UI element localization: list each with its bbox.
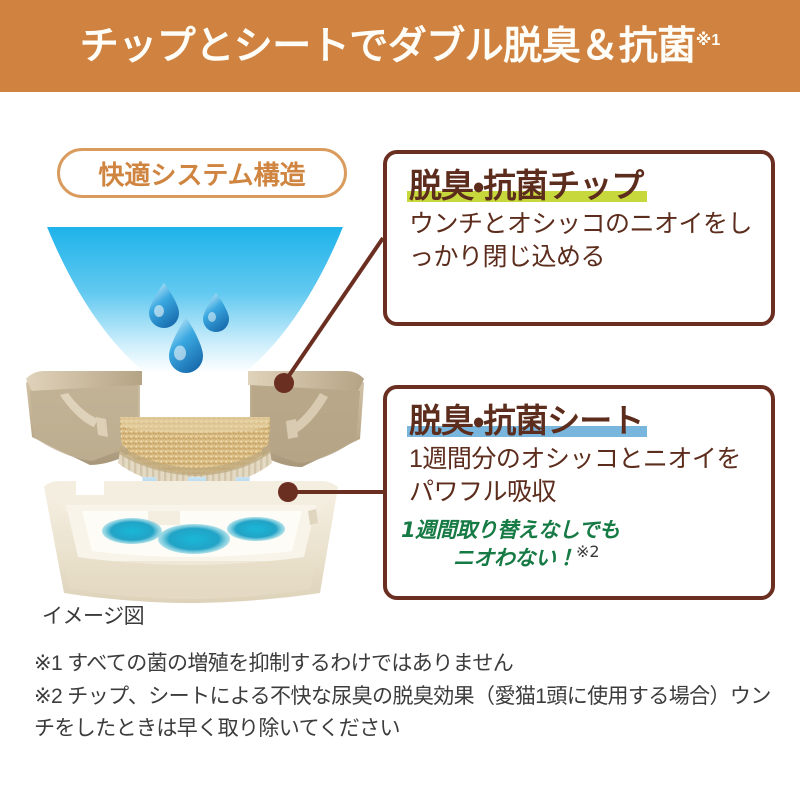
page-title-text: チップとシートでダブル脱臭＆抗菌 — [80, 25, 696, 68]
callout-chip-heading: 脱臭・抗菌チップ — [409, 168, 643, 205]
callout-sheet-heading: 脱臭・抗菌シート — [409, 403, 643, 440]
handwritten-claim-line2-text: ニオわない！ — [453, 546, 576, 570]
page-title-footnote-marker: ※1 — [696, 32, 720, 49]
footnotes: ※1 すべての菌の増殖を抑制するわけではありません ※2 チップ、シートによる不… — [34, 648, 774, 746]
callout-chip-heading-text: 脱臭・抗菌チップ — [409, 167, 643, 204]
footnote-2: ※2 チップ、シートによる不快な尿臭の脱臭効果（愛猫1頭に使用する場合）ウンチを… — [34, 681, 774, 746]
lower-sheet-tray — [44, 481, 338, 603]
handwritten-claim-line1: 1週間取り替えなしでも — [401, 519, 771, 543]
page-title: チップとシートでダブル脱臭＆抗菌※1 — [80, 27, 720, 66]
handwritten-claim: 1週間取り替えなしでも ニオわない！※2 — [387, 519, 771, 570]
system-structure-badge-label: 快適システム構造 — [98, 155, 305, 192]
callout-sheet-heading-text: 脱臭・抗菌シート — [409, 402, 643, 439]
footnote-1: ※1 すべての菌の増殖を抑制するわけではありません — [34, 648, 774, 681]
callout-chip-body: ウンチとオシッコのニオイをしっかり閉じ込める — [409, 208, 757, 275]
handwritten-claim-line2: ニオわない！※2 — [401, 543, 771, 571]
image-caption: イメージ図 — [42, 600, 144, 630]
callout-chip: 脱臭・抗菌チップ ウンチとオシッコのニオイをしっかり閉じ込める — [383, 150, 775, 326]
upper-litter-tray — [26, 371, 364, 488]
callout-sheet-body: 1週間分のオシッコとニオイをパワフル吸収 — [409, 443, 757, 510]
litter-box-illustration — [20, 205, 370, 605]
callout-sheet: 脱臭・抗菌シート 1週間分のオシッコとニオイをパワフル吸収 1週間取り替えなしで… — [383, 385, 775, 600]
infographic-page: チップとシートでダブル脱臭＆抗菌※1 快適システム構造 — [0, 0, 800, 800]
header-banner: チップとシートでダブル脱臭＆抗菌※1 — [0, 0, 800, 92]
system-structure-badge: 快適システム構造 — [57, 148, 347, 198]
handwritten-claim-footnote-marker: ※2 — [576, 542, 600, 561]
